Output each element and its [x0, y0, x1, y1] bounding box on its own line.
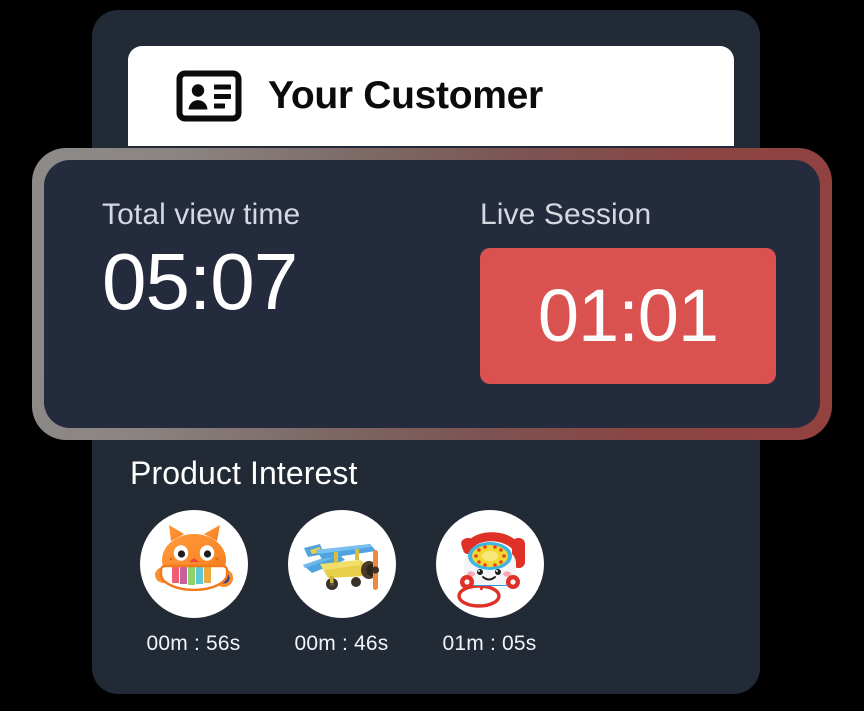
product-interest-section: Product Interest — [92, 455, 760, 656]
product-view-time: 00m : 46s — [294, 632, 388, 656]
product-interest-list: 00m : 56s — [130, 510, 760, 656]
cat-piano-toy-icon — [151, 521, 237, 607]
session-card-glow: Total view time 05:07 Live Session 01:01 — [32, 148, 832, 440]
live-session-timer-badge: 01:01 — [480, 248, 776, 384]
list-item[interactable]: 01m : 05s — [426, 510, 553, 656]
live-session-label: Live Session — [480, 198, 776, 232]
live-session-value: 01:01 — [538, 279, 718, 353]
product-thumbnail[interactable] — [288, 510, 396, 618]
session-card: Total view time 05:07 Live Session 01:01 — [44, 160, 820, 428]
live-session-metric: Live Session 01:01 — [480, 198, 776, 384]
product-view-time: 01m : 05s — [442, 632, 536, 656]
list-item[interactable]: 00m : 56s — [130, 510, 257, 656]
list-item[interactable]: 00m : 46s — [278, 510, 405, 656]
product-thumbnail[interactable] — [436, 510, 544, 618]
total-view-time-value: 05:07 — [102, 242, 480, 322]
toy-telephone-icon — [446, 520, 534, 608]
total-view-time-label: Total view time — [102, 198, 480, 232]
product-thumbnail[interactable] — [140, 510, 248, 618]
id-card-icon — [176, 70, 242, 122]
product-view-time: 00m : 56s — [146, 632, 240, 656]
page-title: Your Customer — [268, 74, 543, 118]
total-view-time-metric: Total view time 05:07 — [102, 198, 480, 384]
biplane-toy-icon — [298, 520, 386, 608]
customer-header: Your Customer — [128, 46, 734, 146]
product-interest-title: Product Interest — [130, 455, 760, 492]
session-metrics: Total view time 05:07 Live Session 01:01 — [102, 198, 820, 384]
